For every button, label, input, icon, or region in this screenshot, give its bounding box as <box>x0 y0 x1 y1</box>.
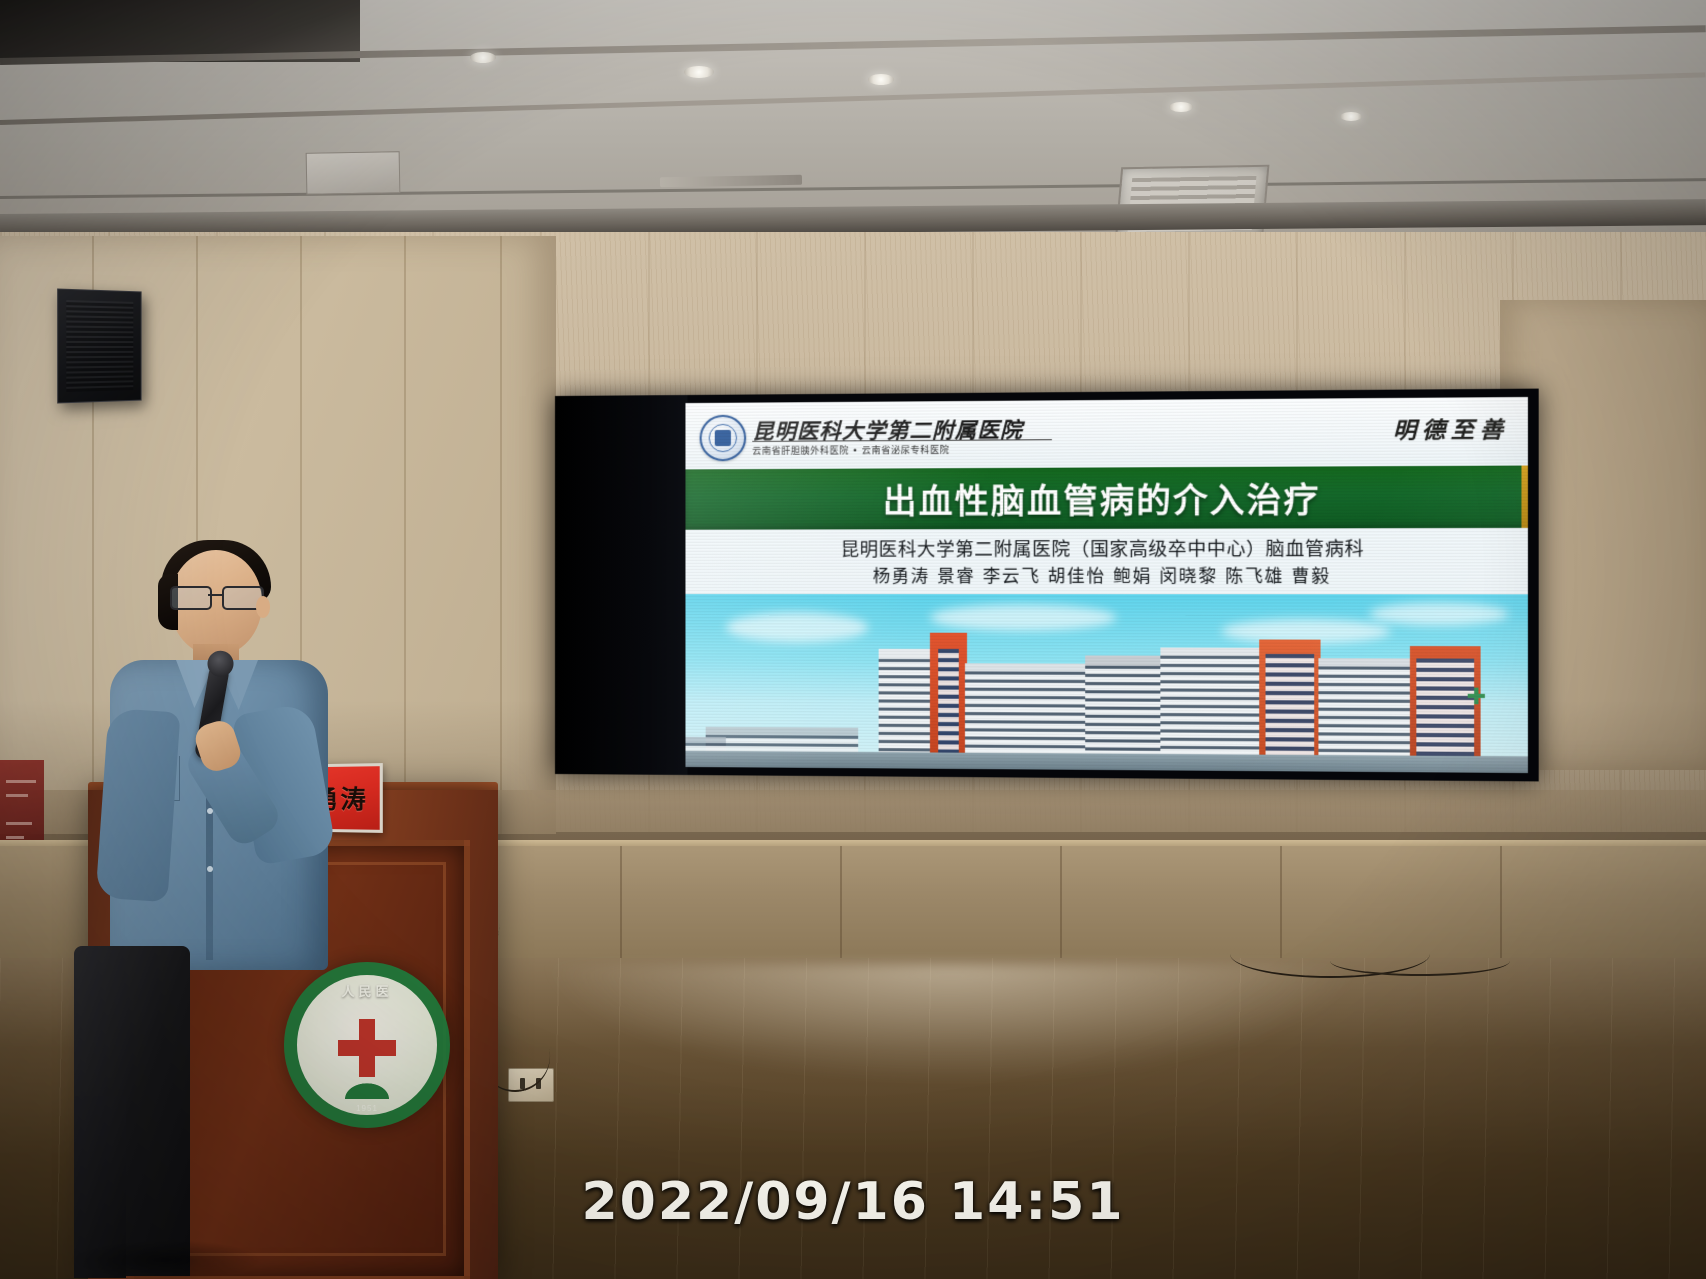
ceiling-light <box>1169 102 1193 112</box>
photo-timestamp: 2022/09/16 14:51 <box>0 1172 1706 1232</box>
ceiling-fixture <box>306 151 401 195</box>
speaker-arm-left <box>95 708 180 903</box>
screen-bezel-left <box>555 395 687 775</box>
slide-header: 昆明医科大学第二附属医院 云南省肝胆胰外科医院 • 云南省泌尿专科医院 明德至善 <box>685 397 1527 469</box>
screen-display-area: 昆明医科大学第二附属医院 云南省肝胆胰外科医院 • 云南省泌尿专科医院 明德至善… <box>685 397 1527 773</box>
conference-photo: 昆明医科大学第二附属医院 云南省肝胆胰外科医院 • 云南省泌尿专科医院 明德至善… <box>0 0 1706 1279</box>
floor-highlight <box>540 964 1360 1084</box>
slide-building-photo <box>685 594 1527 773</box>
ceiling-light <box>470 52 496 63</box>
hospital-building <box>879 649 932 769</box>
speaker-shadow <box>70 1240 260 1279</box>
presentation-slide: 昆明医科大学第二附属医院 云南省肝胆胰外科医院 • 云南省泌尿专科医院 明德至善… <box>685 397 1527 773</box>
speaker-ear <box>256 596 270 618</box>
floor-cable <box>1330 946 1510 976</box>
slide-motto: 明德至善 <box>1393 412 1509 446</box>
ceiling-track-rail <box>660 175 802 187</box>
ceiling <box>0 0 1706 232</box>
hospital-building <box>1259 639 1320 771</box>
emblem-cross-icon <box>338 1019 396 1077</box>
emblem-leaf-icon <box>339 1079 395 1099</box>
slide-title: 出血性脑血管病的介入治疗 <box>685 466 1527 530</box>
hospital-building <box>1160 647 1261 771</box>
eyeglasses-icon <box>170 586 264 606</box>
wall-loudspeaker <box>57 288 141 403</box>
ceiling-light <box>868 74 894 85</box>
hospital-crest-icon <box>700 415 747 462</box>
slide-authors: 杨勇涛 景睿 李云飞 胡佳怡 鲍娟 闵晓黎 陈飞雄 曹毅 <box>685 561 1527 587</box>
speaker-person <box>30 540 330 1279</box>
ceiling-beam <box>0 72 1705 125</box>
medical-cross-icon <box>1468 688 1485 705</box>
ceiling-light <box>1340 112 1362 121</box>
ceiling-light <box>684 66 714 78</box>
hospital-building <box>1410 646 1481 773</box>
led-presentation-screen[interactable]: 昆明医科大学第二附属医院 云南省肝胆胰外科医院 • 云南省泌尿专科医院 明德至善… <box>555 389 1539 782</box>
slide-affiliation: 昆明医科大学第二附属医院（国家高级卒中中心）脑血管病科 <box>685 534 1527 562</box>
hospital-building <box>930 633 967 769</box>
slide-institution-subline: 云南省肝胆胰外科医院 • 云南省泌尿专科医院 <box>752 443 949 457</box>
ceiling-seam <box>0 178 1706 199</box>
